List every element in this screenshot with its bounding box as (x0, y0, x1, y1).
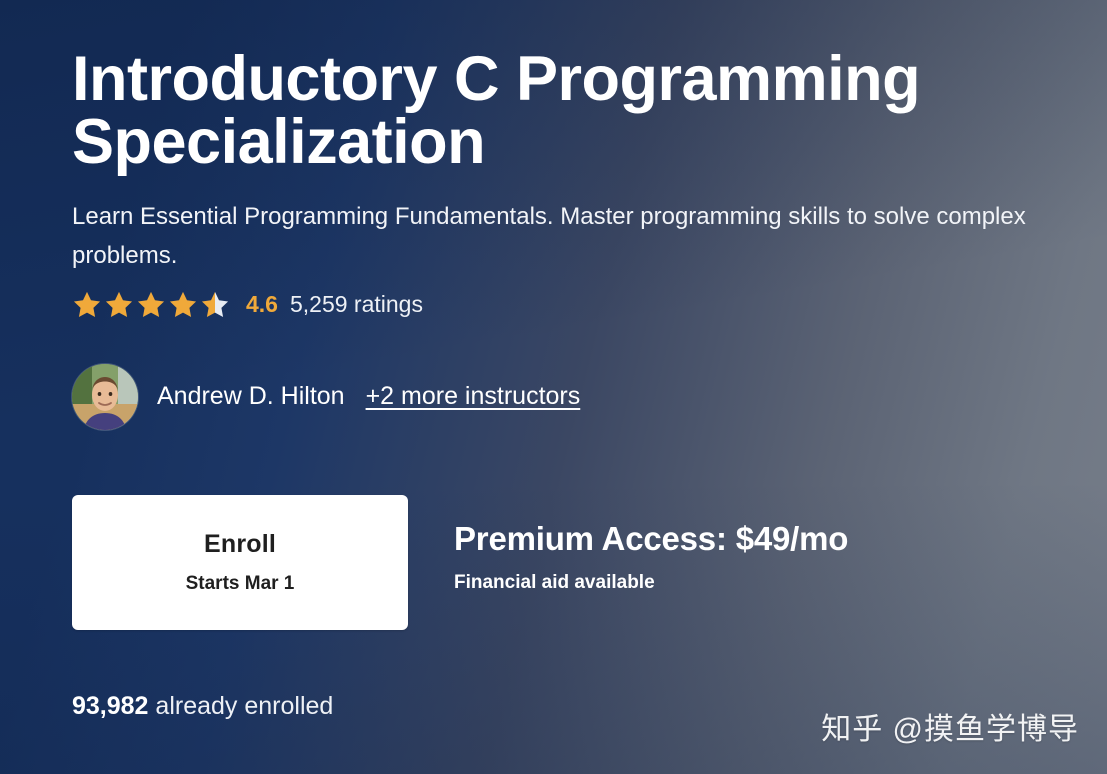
star-icon-full-1 (72, 290, 102, 319)
rating-value: 4.6 (246, 291, 278, 318)
rating-row: 4.6 5,259 ratings (72, 288, 1107, 322)
watermark: 知乎 @摸鱼学博导 (821, 704, 1079, 748)
rating-count: 5,259 ratings (290, 291, 423, 318)
star-rating[interactable] (72, 290, 230, 319)
enroll-button[interactable]: Enroll Starts Mar 1 (72, 495, 408, 630)
star-icon-half-5 (200, 290, 230, 319)
course-hero-banner: Introductory C Programming Specializatio… (0, 0, 1107, 774)
star-icon-full-2 (104, 290, 134, 319)
instructor-name: Andrew D. Hilton (157, 382, 345, 411)
enrolled-label: already enrolled (155, 692, 333, 720)
avatar (72, 364, 138, 430)
star-icon-full-3 (136, 290, 166, 319)
financial-aid-label[interactable]: Financial aid available (454, 572, 848, 594)
enroll-start-date: Starts Mar 1 (186, 573, 295, 595)
cta-row: Enroll Starts Mar 1 Premium Access: $49/… (72, 495, 1107, 630)
enroll-button-label: Enroll (204, 530, 276, 559)
instructor-row: Andrew D. Hilton +2 more instructors (72, 365, 1107, 429)
star-icon-full-4 (168, 290, 198, 319)
more-instructors-link[interactable]: +2 more instructors (366, 382, 581, 411)
premium-price-label: Premium Access: $49/mo (454, 519, 848, 559)
course-subtitle: Learn Essential Programming Fundamentals… (72, 174, 1072, 276)
enrolled-count: 93,982 (72, 692, 148, 720)
page-title: Introductory C Programming Specializatio… (72, 0, 1032, 174)
hero-content: Introductory C Programming Specializatio… (0, 0, 1107, 721)
pricing-block: Premium Access: $49/mo Financial aid ava… (454, 495, 848, 595)
